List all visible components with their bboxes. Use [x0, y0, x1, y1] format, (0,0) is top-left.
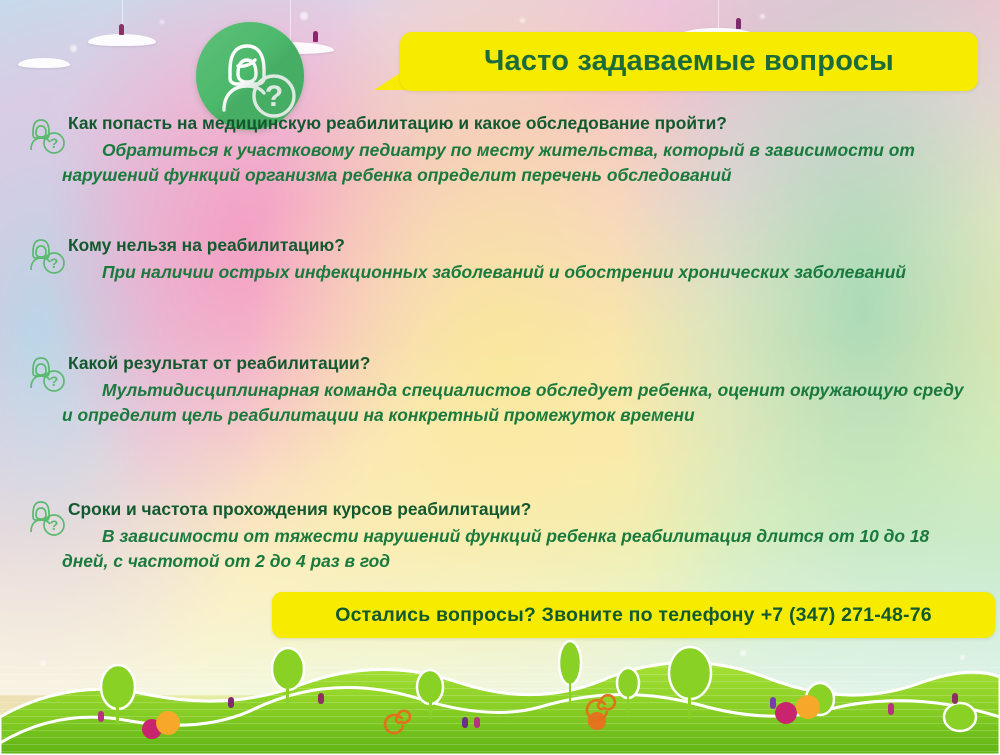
svg-text:?: ?: [50, 373, 59, 389]
faq-item: ? Как попасть на медицинскую реабилитаци…: [0, 112, 1000, 220]
contact-banner[interactable]: Остались вопросы? Звоните по телефону+7 …: [272, 592, 995, 638]
mobile-figure: [736, 18, 741, 29]
mobile-cloud: [18, 58, 70, 68]
faq-item: ? Кому нельзя на реабилитацию? При налич…: [0, 234, 1000, 338]
faq-question: Как попасть на медицинскую реабилитацию …: [0, 112, 1000, 134]
mobile-cloud: [88, 34, 156, 46]
person-question-icon: ?: [26, 498, 68, 538]
faq-answer: При наличии острых инфекционных заболева…: [0, 260, 1000, 285]
page-title-banner: Часто задаваемые вопросы: [400, 32, 978, 91]
svg-text:?: ?: [50, 255, 59, 271]
sparkle-dot: [300, 12, 308, 20]
page-title: Часто задаваемые вопросы: [484, 45, 894, 78]
landscape-illustration: [0, 625, 1000, 755]
phone-number[interactable]: +7 (347) 271-48-76: [761, 604, 932, 626]
faq-question: Какой результат от реабилитации?: [0, 352, 1000, 374]
faq-list: ? Как попасть на медицинскую реабилитаци…: [0, 112, 1000, 612]
svg-text:?: ?: [50, 517, 59, 533]
sparkle-dot: [160, 20, 164, 24]
faq-answer: В зависимости от тяжести нарушений функц…: [0, 524, 1000, 573]
faq-answer: Обратиться к участковому педиатру по мес…: [0, 138, 1000, 187]
sparkle-dot: [760, 14, 765, 19]
svg-text:?: ?: [50, 135, 59, 151]
faq-question: Кому нельзя на реабилитацию?: [0, 234, 1000, 256]
faq-item: ? Какой результат от реабилитации? Мульт…: [0, 352, 1000, 484]
contact-banner-text: Остались вопросы? Звоните по телефону+7 …: [335, 604, 932, 627]
sparkle-dot: [520, 18, 525, 23]
faq-question: Сроки и частота прохождения курсов реаби…: [0, 498, 1000, 520]
faq-item: ? Сроки и частота прохождения курсов реа…: [0, 498, 1000, 598]
person-question-icon: ?: [26, 116, 68, 156]
mobile-figure: [313, 31, 318, 42]
faq-poster: Часто задаваемые вопросы ?: [0, 0, 1000, 755]
faq-answer: Мультидисциплинарная команда специалисто…: [0, 378, 1000, 427]
person-question-icon: ?: [26, 354, 68, 394]
person-question-icon: ?: [26, 236, 68, 276]
mobile-figure: [119, 24, 124, 35]
contact-prompt: Остались вопросы? Звоните по телефону: [335, 604, 755, 626]
mobile-string: [718, 0, 719, 30]
sparkle-dot: [70, 45, 77, 52]
